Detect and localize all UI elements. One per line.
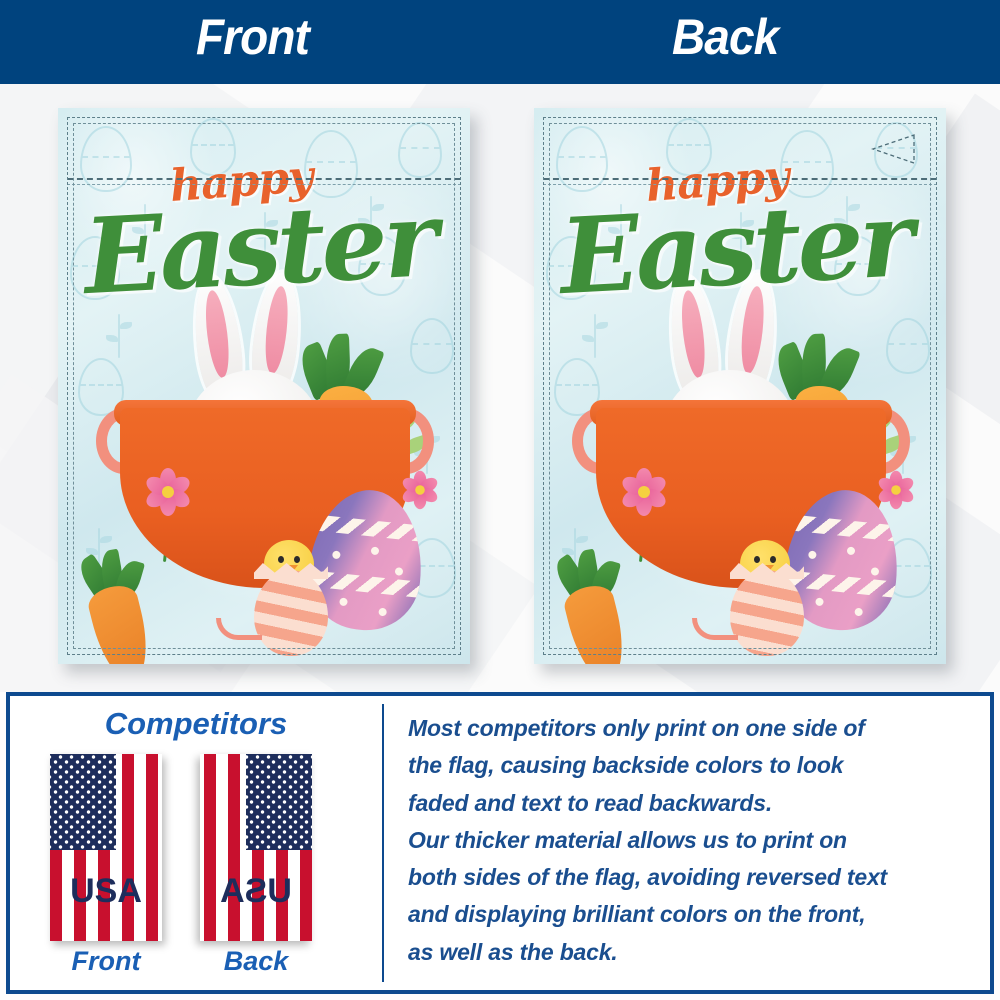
garden-flag-back: happy Easter: [534, 108, 946, 664]
corner-reinforcement-triangle-icon: [870, 132, 916, 166]
header-banner: Front Back: [0, 0, 1000, 84]
competitor-flag-back: USA: [200, 754, 312, 941]
headline-easter: Easter: [557, 177, 913, 318]
copy-line: both sides of the flag, avoiding reverse…: [408, 859, 972, 896]
competitor-back-caption: Back: [200, 946, 312, 977]
flag-seam-line: [543, 178, 937, 180]
copy-line: and displaying brilliant colors on the f…: [408, 896, 972, 933]
carrot-outside-basket: [561, 581, 633, 664]
copy-line: Most competitors only print on one side …: [408, 710, 972, 747]
pink-flower: [142, 466, 194, 518]
cracked-egg-shell: [730, 570, 804, 656]
flag-seam-line-secondary: [67, 184, 461, 185]
competitor-flag-text: USA: [50, 872, 162, 911]
garden-flag-front: happy Easter: [58, 108, 470, 664]
pink-flower: [399, 469, 441, 511]
copy-line: Our thicker material allows us to print …: [408, 822, 972, 859]
header-back-label: Back: [672, 8, 778, 66]
carrot-outside-basket: [85, 581, 157, 664]
copy-line: the flag, causing backside colors to loo…: [408, 747, 972, 784]
stars-row-b: [50, 754, 116, 850]
product-comparison-page: Front Back: [0, 0, 1000, 1000]
competitors-column: Competitors USA USA Front Back: [10, 696, 382, 990]
flag-seam-line: [67, 178, 461, 180]
cracked-egg-shell: [254, 570, 328, 656]
headline-easter: Easter: [81, 177, 437, 318]
competitor-flag-front: USA: [50, 754, 162, 941]
flag-canton: [50, 754, 116, 850]
pink-sprout: [216, 618, 262, 640]
flag-seam-line-secondary: [543, 184, 937, 185]
flag-canton: [246, 754, 312, 850]
stars-row-b: [246, 754, 312, 850]
competitor-front-caption: Front: [50, 946, 162, 977]
copy-line: as well as the back.: [408, 934, 972, 971]
competitor-flag-text-mirrored: USA: [200, 872, 312, 911]
copy-line: faded and text to read backwards.: [408, 785, 972, 822]
header-front-label: Front: [196, 8, 309, 66]
pink-flower: [618, 466, 670, 518]
pink-flower: [875, 469, 917, 511]
comparison-panel: Competitors USA USA Front Back: [6, 692, 994, 994]
marketing-copy: Most competitors only print on one side …: [398, 704, 980, 986]
panel-divider: [382, 704, 384, 982]
competitors-title: Competitors: [10, 706, 382, 742]
pink-sprout: [692, 618, 738, 640]
